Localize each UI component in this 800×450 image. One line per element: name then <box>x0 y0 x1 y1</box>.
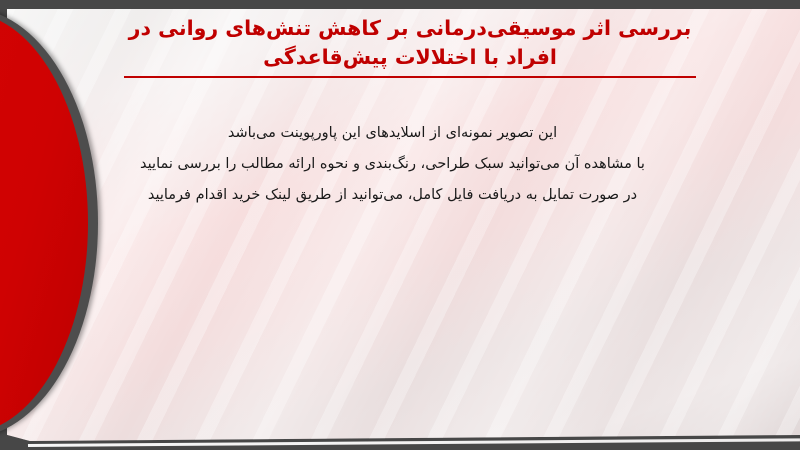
red-ellipse-decoration <box>0 8 98 438</box>
body-line-3: در صورت تمایل به دریافت فایل کامل، می‌تو… <box>95 180 690 211</box>
slide-title-line-1: بررسی اثر موسیقی‌درمانی بر کاهش تنش‌های … <box>110 14 710 43</box>
body-line-1: این تصویر نمونه‌ای از اسلایدهای این پاور… <box>95 118 690 149</box>
red-ellipse-fill <box>0 12 88 434</box>
title-underline-rule <box>124 76 696 78</box>
body-line-2: با مشاهده آن می‌توانید سبک طراحی، رنگ‌بن… <box>95 149 690 180</box>
slide-body-text: این تصویر نمونه‌ای از اسلایدهای این پاور… <box>95 118 690 211</box>
slide-canvas: بررسی اثر موسیقی‌درمانی بر کاهش تنش‌های … <box>0 0 800 450</box>
slide-title: بررسی اثر موسیقی‌درمانی بر کاهش تنش‌های … <box>110 14 710 78</box>
slide-title-line-2: افراد با اختلالات پیش‌قاعدگی <box>110 43 710 72</box>
